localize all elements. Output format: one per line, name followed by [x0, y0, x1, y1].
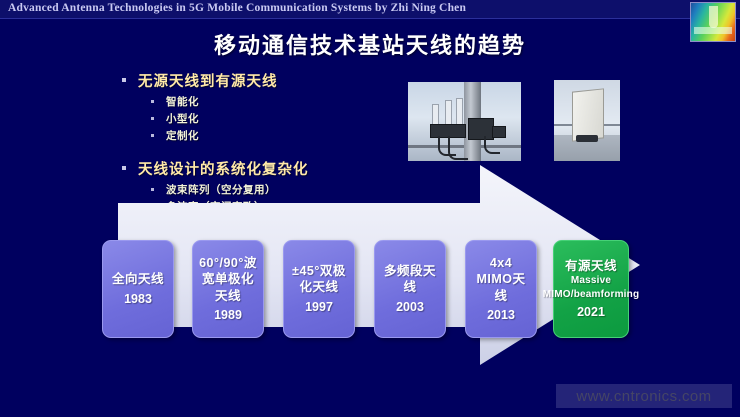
presentation-slide: Advanced Antenna Technologies in 5G Mobi… — [0, 0, 740, 417]
timeline-item-name: 全向天线 — [112, 271, 164, 288]
timeline-item-name: 60°/90°波宽单极化天线 — [198, 255, 258, 305]
panel-antenna-photo — [554, 80, 620, 161]
presentation-title: Advanced Antenna Technologies in 5G Mobi… — [8, 2, 466, 14]
timeline-item-year: 1989 — [214, 307, 242, 324]
timeline-item-4[interactable]: 4x4 MIMO天线 2013 — [465, 240, 537, 338]
timeline-item-1[interactable]: 60°/90°波宽单极化天线 1989 — [192, 240, 264, 338]
timeline-item-2[interactable]: ±45°双极化天线 1997 — [283, 240, 355, 338]
base-station-mast-photo — [408, 82, 521, 161]
timeline-item-year: 1983 — [124, 291, 152, 308]
bullet-level1: 无源天线到有源天线 — [118, 70, 408, 91]
timeline-item-year: 2003 — [396, 299, 424, 316]
timeline-item-year: 1997 — [305, 299, 333, 316]
bullet-level2: 定制化 — [118, 128, 408, 143]
timeline-item-name: 多频段天线 — [380, 263, 440, 296]
timeline-item-5[interactable]: 有源天线 Massive MIMO/beamforming 2021 — [553, 240, 629, 338]
timeline-item-name: ±45°双极化天线 — [289, 263, 349, 296]
timeline-item-name: 4x4 MIMO天线 — [471, 255, 531, 305]
slide-title: 移动通信技术基站天线的趋势 — [0, 28, 740, 60]
timeline-item-name: 有源天线 — [565, 258, 617, 275]
bullet-group-spacer — [118, 145, 408, 158]
bullet-level2: 小型化 — [118, 111, 408, 126]
header-bar: Advanced Antenna Technologies in 5G Mobi… — [0, 0, 740, 19]
bullet-level2: 智能化 — [118, 94, 408, 109]
timeline-item-subtitle: Massive MIMO/beamforming — [543, 274, 640, 300]
watermark: www.cntronics.com — [556, 384, 732, 408]
timeline-item-year: 2013 — [487, 307, 515, 324]
timeline-item-year: 2021 — [577, 304, 605, 321]
timeline-item-0[interactable]: 全向天线 1983 — [102, 240, 174, 338]
timeline-item-3[interactable]: 多频段天线 2003 — [374, 240, 446, 338]
